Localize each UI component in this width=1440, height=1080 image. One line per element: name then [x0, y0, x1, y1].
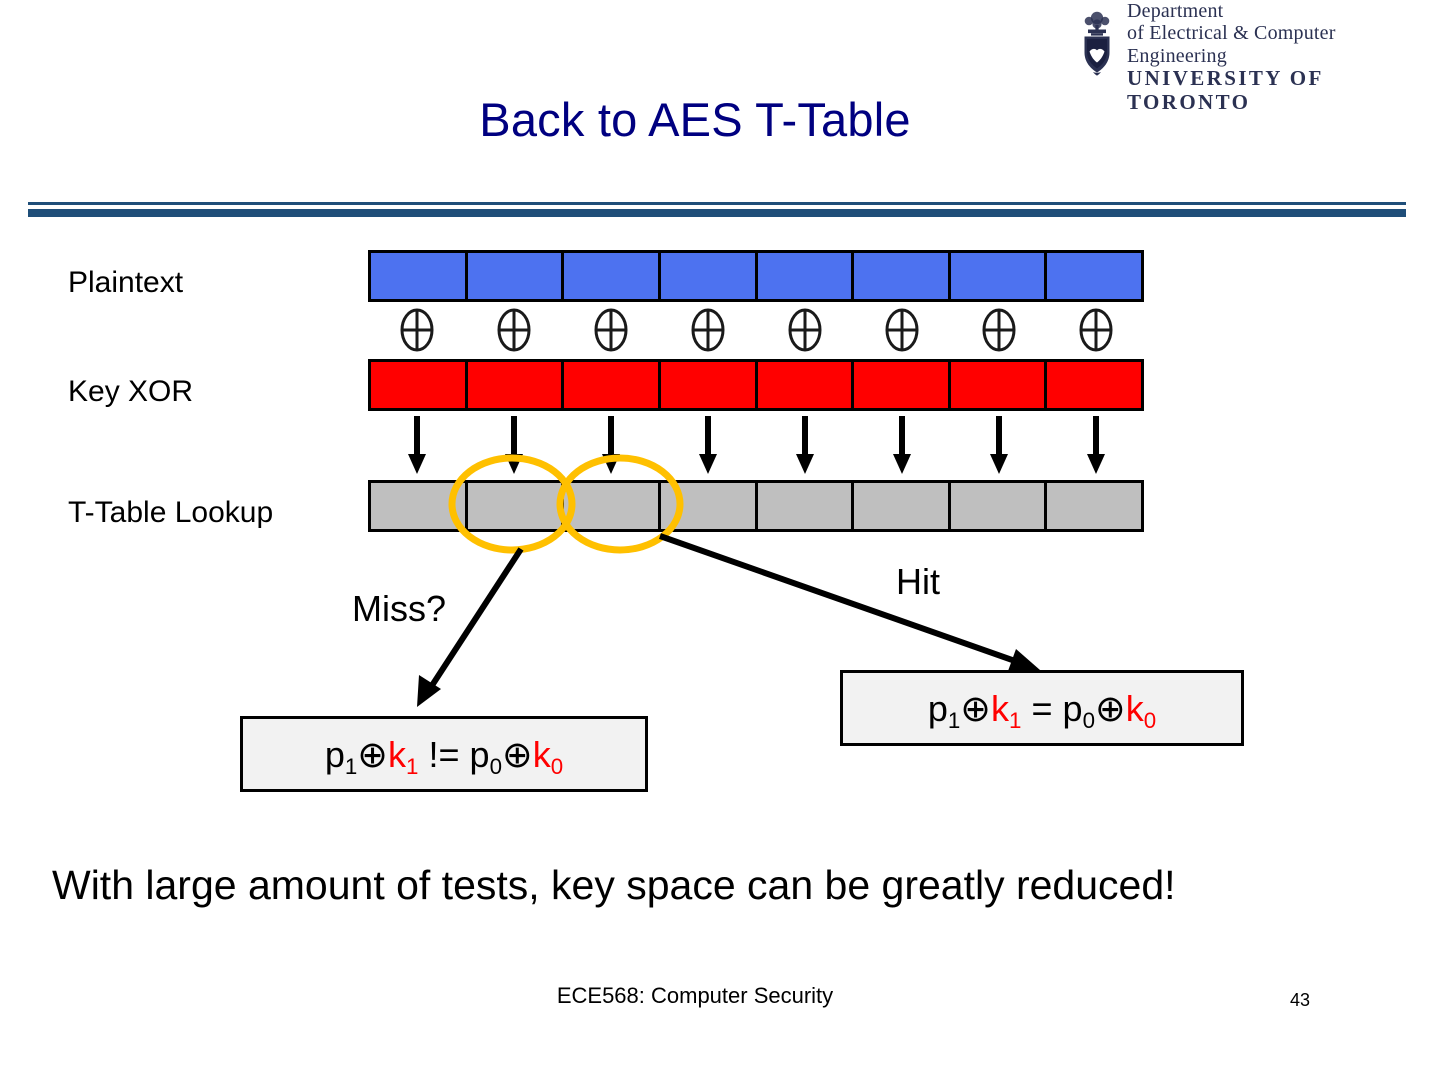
conclusion-text: With large amount of tests, key space ca…	[52, 862, 1382, 909]
miss-formula: p1⊕k1 != p0⊕k0	[325, 733, 563, 776]
hit-k1-sub: 1	[1009, 708, 1021, 733]
xor-symbol-icon	[465, 306, 562, 354]
key-xor-cell	[758, 362, 855, 408]
slide-canvas: The Edward S. Rogers Sr. Department of E…	[0, 0, 1440, 1080]
uoft-logo-line1: The Edward S. Rogers Sr. Department	[1127, 0, 1430, 22]
miss-label: Miss?	[352, 588, 446, 630]
uoft-logo: The Edward S. Rogers Sr. Department of E…	[1075, 10, 1430, 82]
xor-symbol-icon	[368, 306, 465, 354]
key-xor-cell	[371, 362, 468, 408]
hit-k0: k	[1126, 688, 1144, 729]
hit-p0-sub: 0	[1083, 708, 1095, 733]
miss-k0: k	[533, 734, 551, 775]
xor-symbol-icon	[853, 306, 950, 354]
t-table-cell	[1047, 483, 1141, 529]
plaintext-cell	[371, 253, 468, 299]
hit-p1-sub: 1	[948, 708, 960, 733]
plaintext-cell	[468, 253, 565, 299]
title-divider	[28, 202, 1406, 216]
divider-thick-line	[28, 209, 1406, 217]
miss-p0-sub: 0	[490, 754, 502, 779]
miss-p0: p	[470, 734, 490, 775]
page-title: Back to AES T-Table	[0, 92, 1390, 147]
plaintext-cell	[854, 253, 951, 299]
xor-symbol-icon	[950, 306, 1047, 354]
hit-formula-box: p1⊕k1 = p0⊕k0	[840, 670, 1244, 746]
down-arrow-icon	[853, 414, 950, 478]
hit-label: Hit	[896, 561, 940, 603]
xor-symbol-icon	[1047, 306, 1144, 354]
divider-thin-line	[28, 202, 1406, 205]
hit-operator: =	[1031, 688, 1052, 729]
row-label-plaintext: Plaintext	[68, 266, 183, 300]
down-arrow-icon	[756, 414, 853, 478]
down-arrow-icon	[950, 414, 1047, 478]
key-xor-cell	[951, 362, 1048, 408]
key-xor-cell	[564, 362, 661, 408]
hit-oplus-1: ⊕	[960, 688, 991, 729]
plaintext-cell	[661, 253, 758, 299]
t-table-cell	[951, 483, 1048, 529]
hit-p0: p	[1063, 688, 1083, 729]
miss-operator: !=	[428, 734, 459, 775]
plaintext-cell	[951, 253, 1048, 299]
miss-p1: p	[325, 734, 345, 775]
hit-pointer-arrow	[650, 525, 1050, 685]
xor-symbol-row	[368, 306, 1144, 354]
footer-course-label: ECE568: Computer Security	[0, 983, 1390, 1009]
key-xor-cell	[1047, 362, 1141, 408]
key-xor-cell	[661, 362, 758, 408]
plaintext-cell	[564, 253, 661, 299]
hit-oplus-2: ⊕	[1095, 688, 1126, 729]
t-table-cell	[758, 483, 855, 529]
hit-formula: p1⊕k1 = p0⊕k0	[928, 687, 1156, 730]
row-label-key-xor: Key XOR	[68, 375, 193, 409]
xor-symbol-icon	[756, 306, 853, 354]
key-xor-byte-row	[368, 359, 1144, 411]
miss-k1: k	[388, 734, 406, 775]
down-arrow-icon	[1047, 414, 1144, 478]
miss-oplus-1: ⊕	[357, 734, 388, 775]
key-xor-cell	[854, 362, 951, 408]
hit-p1: p	[928, 688, 948, 729]
uoft-logo-line2: of Electrical & Computer Engineering	[1127, 22, 1430, 67]
uoft-crest-icon	[1075, 11, 1119, 82]
t-table-cell	[854, 483, 951, 529]
miss-formula-box: p1⊕k1 != p0⊕k0	[240, 716, 648, 792]
plaintext-byte-row	[368, 250, 1144, 302]
miss-k0-sub: 0	[551, 754, 563, 779]
hit-k1: k	[991, 688, 1009, 729]
xor-symbol-icon	[659, 306, 756, 354]
footer-page-number: 43	[1290, 990, 1310, 1011]
xor-symbol-icon	[562, 306, 659, 354]
plaintext-cell	[1047, 253, 1141, 299]
plaintext-cell	[758, 253, 855, 299]
key-xor-cell	[468, 362, 565, 408]
hit-k0-sub: 0	[1144, 708, 1156, 733]
row-label-t-table-lookup: T-Table Lookup	[68, 496, 273, 530]
miss-p1-sub: 1	[345, 754, 357, 779]
miss-oplus-2: ⊕	[502, 734, 533, 775]
miss-k1-sub: 1	[406, 754, 418, 779]
